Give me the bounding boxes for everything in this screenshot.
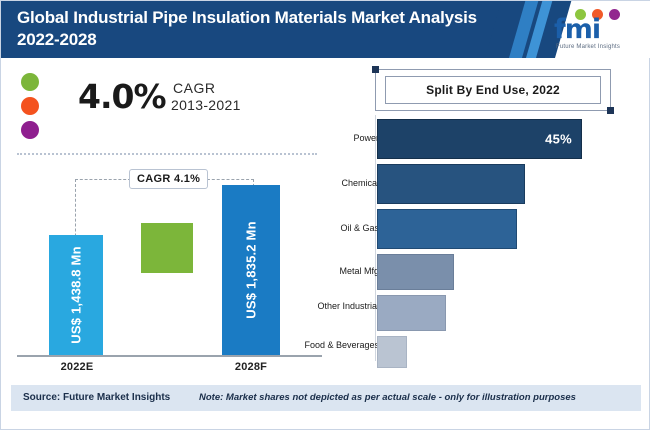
end-use-row-metal-mfg: Metal Mfg: [327, 254, 637, 290]
logo-tagline: Future Market Insights: [556, 44, 644, 50]
end-use-label-other-industrial: Other Industrial: [293, 301, 379, 312]
x-tick-2022e: 2022E: [51, 361, 103, 373]
fmi-logo: fmi Future Market Insights: [554, 9, 644, 53]
split-title-callout: Split By End Use, 2022: [375, 69, 613, 113]
end-use-label-food-beverages: Food & Beverages: [293, 340, 379, 351]
end-use-bar-chemical: [377, 164, 525, 204]
callout-handle-bottom-right-icon: [607, 107, 614, 114]
end-use-bar-power: 45%: [377, 119, 582, 159]
end-use-row-food-beverages: Food & Beverages: [327, 336, 637, 368]
bar-2022e: US$ 1,438.8 Mn: [49, 235, 103, 355]
end-use-row-power: Power 45%: [327, 119, 637, 159]
header-banner: Global Industrial Pipe Insulation Materi…: [1, 1, 650, 58]
end-use-row-other-industrial: Other Industrial: [327, 295, 637, 331]
split-title-text: Split By End Use, 2022: [426, 83, 560, 97]
cagr-connector-right-horizontal: [202, 179, 254, 181]
end-use-bar-oil-gas: [377, 209, 517, 249]
bar-2028f: US$ 1,835.2 Mn: [222, 185, 280, 355]
end-use-label-metal-mfg: Metal Mfg: [293, 266, 379, 277]
footer-source: Source: Future Market Insights: [23, 392, 170, 403]
end-use-label-oil-gas: Oil & Gas: [293, 223, 379, 234]
bar-2022e-value-label: US$ 1,438.8 Mn: [69, 246, 84, 343]
split-title-inner-box: Split By End Use, 2022: [385, 76, 601, 104]
end-use-row-oil-gas: Oil & Gas: [327, 209, 637, 249]
section-divider: [17, 153, 317, 156]
callout-handle-top-left-icon: [372, 66, 379, 73]
infographic-poster: Global Industrial Pipe Insulation Materi…: [0, 0, 650, 430]
end-use-label-chemical: Chemical: [293, 178, 379, 189]
logo-wordmark: fmi: [554, 16, 644, 44]
end-use-bar-metal-mfg: [377, 254, 454, 290]
footer-bar: Source: Future Market Insights Note: Mar…: [11, 385, 641, 411]
market-size-forecast-chart: CAGR 4.1% US$ 1,438.8 Mn US$ 1,835.2 Mn …: [17, 161, 327, 373]
end-use-value-power: 45%: [545, 132, 572, 147]
cagr-label: CAGR: [173, 80, 215, 96]
bar-2028f-value-label: US$ 1,835.2 Mn: [244, 221, 259, 318]
cagr-period: 2013-2021: [171, 97, 241, 113]
split-by-end-use-chart: Split By End Use, 2022 Power 45% Chemica…: [327, 63, 637, 368]
cagr-badge: CAGR 4.1%: [129, 169, 208, 189]
cagr-value: 4.0%: [78, 77, 166, 116]
cagr-dot-purple-icon: [21, 121, 39, 139]
footer-note: Note: Market shares not depicted as per …: [199, 392, 576, 403]
end-use-row-chemical: Chemical: [327, 164, 637, 204]
cagr-connector-left-horizontal: [75, 179, 131, 181]
cagr-dot-green-icon: [21, 73, 39, 91]
cagr-dots-decoration: [21, 73, 39, 139]
cagr-dot-orange-icon: [21, 97, 39, 115]
page-title: Global Industrial Pipe Insulation Materi…: [17, 7, 487, 51]
end-use-bar-food-beverages: [377, 336, 407, 368]
x-tick-2028f: 2028F: [223, 361, 279, 373]
end-use-label-power: Power: [293, 133, 379, 144]
end-use-bar-other-industrial: [377, 295, 446, 331]
green-accent-square: [141, 223, 193, 273]
chart-baseline: [17, 355, 322, 357]
